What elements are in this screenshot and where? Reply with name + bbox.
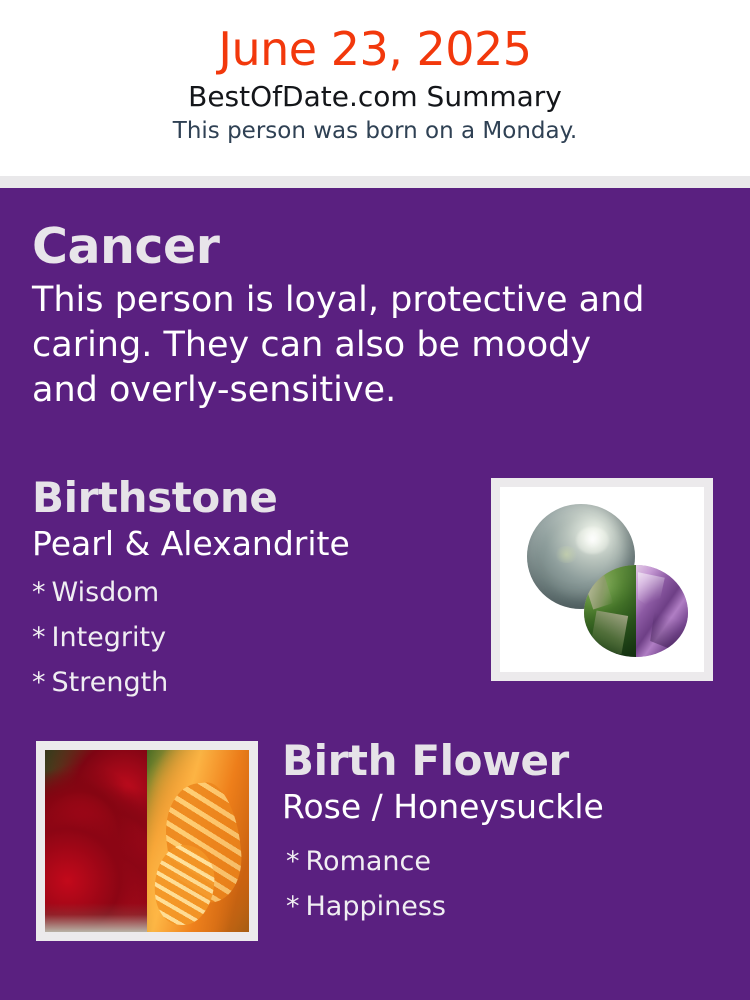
birthstone-image	[500, 487, 704, 672]
card-header: June 23, 2025 BestOfDate.com Summary Thi…	[0, 0, 750, 176]
alexandrite-faceted-purple-half	[636, 565, 688, 658]
bullet-star-icon: *	[286, 891, 300, 922]
site-summary-label: BestOfDate.com Summary	[0, 76, 750, 114]
birthstone-section: Birthstone Pearl & Alexandrite *Wisdom *…	[32, 473, 472, 705]
birth-flower-trait-label: Happiness	[306, 891, 446, 922]
bullet-star-icon: *	[32, 667, 46, 698]
alexandrite-rough-green-half	[584, 565, 636, 658]
birthstone-image-frame	[491, 478, 713, 681]
alexandrite-gem-graphic	[584, 565, 688, 658]
birthstone-trait-label: Integrity	[52, 622, 167, 653]
list-item: *Strength	[32, 660, 472, 705]
birthstone-heading: Birthstone	[32, 473, 472, 523]
birthstone-trait-label: Strength	[52, 667, 169, 698]
birthstone-trait-list: *Wisdom *Integrity *Strength	[32, 564, 472, 705]
zodiac-sign-name: Cancer	[32, 218, 672, 276]
birth-flower-section: Birth Flower Rose / Honeysuckle *Romance…	[282, 736, 732, 929]
zodiac-section: Cancer This person is loyal, protective …	[32, 218, 672, 413]
page-title: June 23, 2025	[0, 0, 750, 76]
zodiac-sign-description: This person is loyal, protective and car…	[32, 276, 652, 413]
summary-card: June 23, 2025 BestOfDate.com Summary Thi…	[0, 0, 750, 1000]
bullet-star-icon: *	[286, 846, 300, 877]
birthstone-trait-label: Wisdom	[52, 577, 160, 608]
list-item: *Wisdom	[32, 570, 472, 615]
header-divider	[0, 176, 750, 188]
birth-flower-names: Rose / Honeysuckle	[282, 786, 732, 827]
birth-flower-trait-label: Romance	[306, 846, 431, 877]
birth-flower-trait-list: *Romance *Happiness	[282, 827, 732, 929]
bullet-star-icon: *	[32, 577, 46, 608]
honeysuckle-photo-half	[147, 750, 249, 932]
birth-flower-image	[45, 750, 249, 932]
birth-flower-heading: Birth Flower	[282, 736, 732, 786]
list-item: *Romance	[286, 839, 732, 884]
list-item: *Happiness	[286, 884, 732, 929]
birthstone-names: Pearl & Alexandrite	[32, 523, 472, 564]
pearl-highlight	[555, 546, 579, 563]
bullet-star-icon: *	[32, 622, 46, 653]
rose-photo-half	[45, 750, 147, 932]
birth-flower-image-frame	[36, 741, 258, 941]
list-item: *Integrity	[32, 615, 472, 660]
born-weekday-text: This person was born on a Monday.	[0, 114, 750, 145]
